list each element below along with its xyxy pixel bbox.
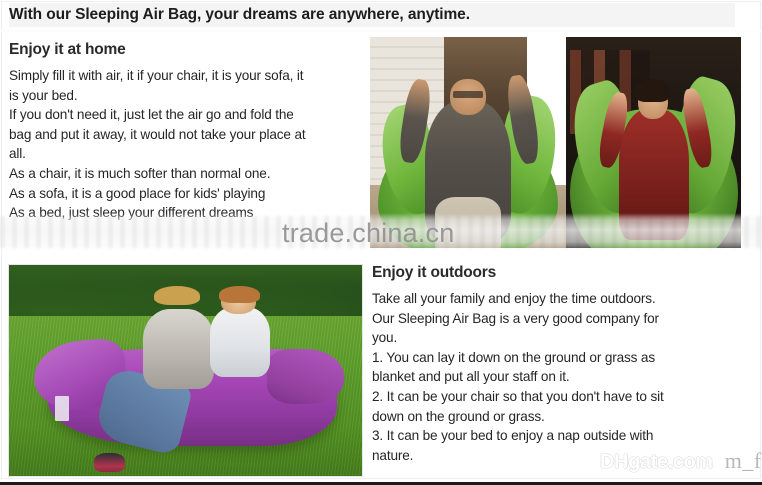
body-line: nature.	[372, 446, 750, 466]
woman-hair	[154, 286, 200, 305]
body-line: 1. You can lay it down on the ground or …	[372, 348, 750, 368]
headline-banner: With our Sleeping Air Bag, your dreams a…	[9, 3, 735, 27]
photo-outdoor-lounger	[8, 264, 363, 477]
purple-lounger-foot	[267, 349, 345, 404]
boy-hair	[219, 286, 260, 303]
man-legs	[435, 197, 502, 248]
section-outdoors-body: Take all your family and enjoy the time …	[372, 289, 750, 465]
body-line: Take all your family and enjoy the time …	[372, 289, 750, 309]
photo-indoor-loungers	[370, 37, 741, 248]
photo-indoor-right	[566, 37, 741, 248]
indoor-right-scene	[566, 37, 741, 248]
woman-hair	[635, 79, 670, 102]
headline-divider	[0, 30, 762, 32]
body-line: As a bed, just sleep your different drea…	[9, 203, 361, 223]
body-line: Our Sleeping Air Bag is a very good comp…	[372, 309, 750, 329]
glasses-icon	[453, 91, 482, 98]
body-line: you.	[372, 328, 750, 348]
body-line: As a chair, it is much softer than norma…	[9, 164, 361, 184]
section-home-heading: Enjoy it at home	[9, 41, 361, 59]
body-line: bag and put it away, it would not take y…	[9, 125, 361, 145]
body-line: If you don't need it, just let the air g…	[9, 105, 361, 125]
body-line: 2. It can be your chair so that you don'…	[372, 387, 750, 407]
section-enjoy-at-home: Enjoy it at home Simply fill it with air…	[9, 41, 361, 223]
body-line: As a sofa, it is a good place for kids' …	[9, 184, 361, 204]
indoor-left-scene	[370, 37, 566, 248]
body-line: Simply fill it with air, it if your chai…	[9, 66, 361, 86]
body-line: all.	[9, 144, 361, 164]
section-enjoy-outdoors: Enjoy it outdoors Take all your family a…	[372, 264, 750, 465]
woman-shoe	[94, 453, 126, 472]
outdoor-scene	[9, 265, 362, 476]
section-home-body: Simply fill it with air, it if your chai…	[9, 66, 361, 223]
photo-indoor-left	[370, 37, 566, 248]
body-line: is your bed.	[9, 86, 361, 106]
body-line: blanket and put all your staff on it.	[372, 367, 750, 387]
body-line: down on the ground or grass.	[372, 407, 750, 427]
section-outdoors-heading: Enjoy it outdoors	[372, 264, 750, 282]
body-line: 3. It can be your bed to enjoy a nap out…	[372, 426, 750, 446]
boy-torso	[210, 307, 270, 377]
headline-text: With our Sleeping Air Bag, your dreams a…	[9, 6, 470, 24]
product-description-page: With our Sleeping Air Bag, your dreams a…	[0, 0, 762, 485]
brand-tag	[55, 396, 69, 421]
woman-torso	[619, 109, 689, 240]
